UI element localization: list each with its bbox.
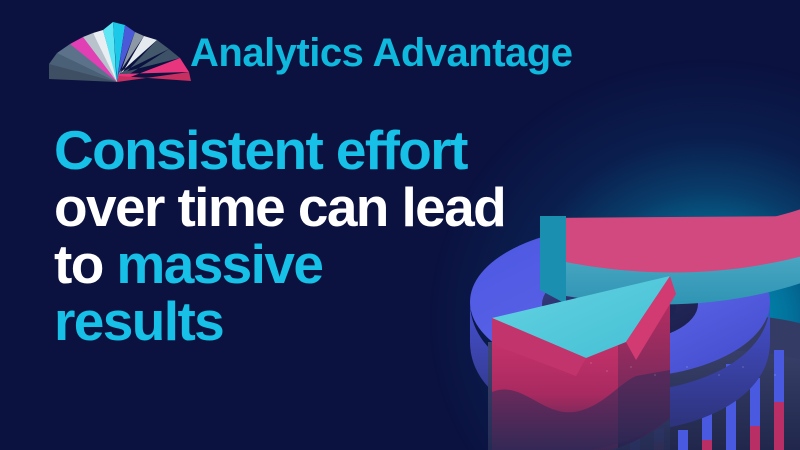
headline-line-2: over time can lead: [54, 179, 654, 236]
headline-line-3-accent: massive: [116, 233, 322, 295]
headline-line-3: to massive: [54, 236, 654, 293]
headline-block: Consistent effort over time can lead to …: [54, 122, 654, 350]
analytics-fan-logo: [42, 14, 192, 86]
headline-line-3-lead: to: [54, 233, 116, 295]
headline-line-1: Consistent effort: [54, 122, 654, 179]
banner-canvas: Analytics Advantage Consistent effort ov…: [0, 0, 800, 450]
headline-line-4: results: [54, 293, 654, 350]
brand-title: Analytics Advantage: [190, 31, 572, 76]
